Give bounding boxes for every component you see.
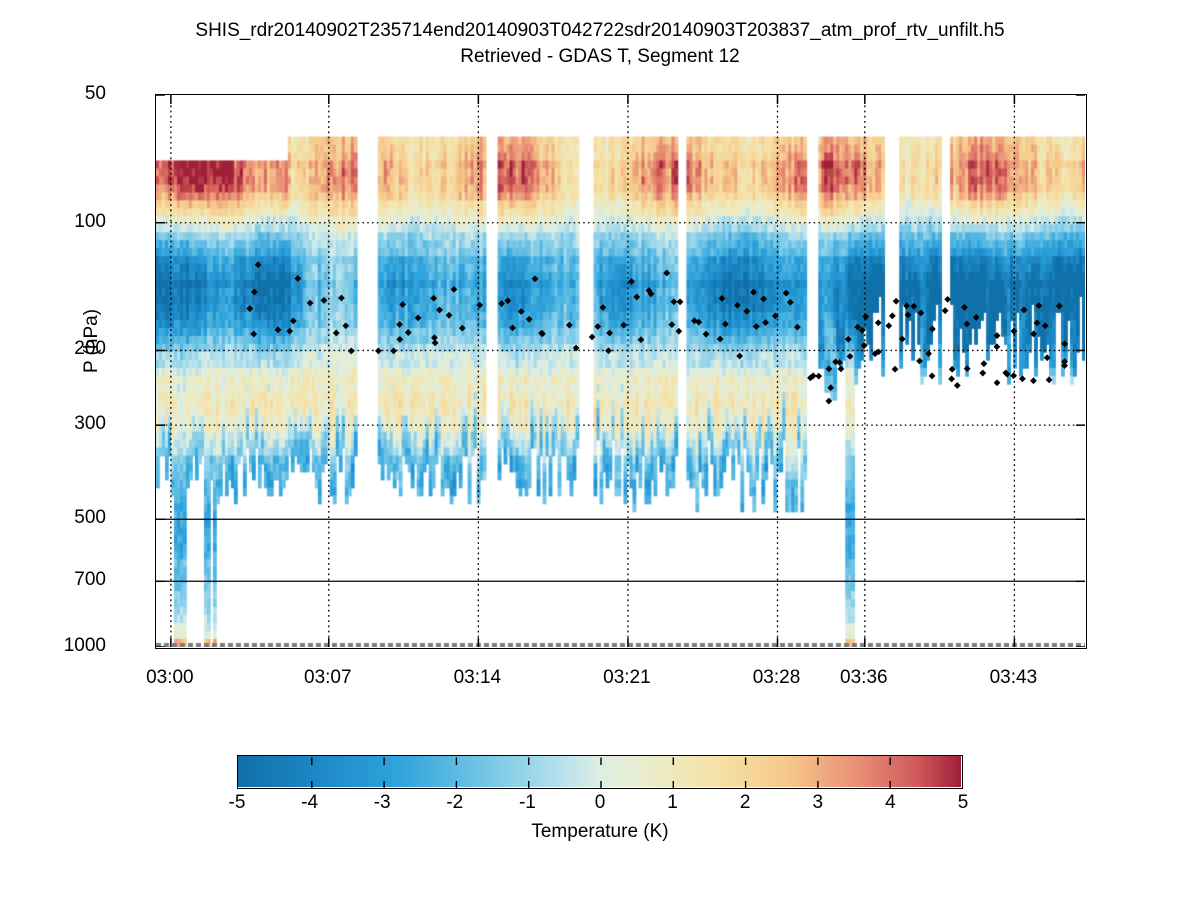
- colorbar-tick-neg1: -1: [497, 793, 557, 812]
- colorbar-tick-4: 4: [860, 793, 920, 812]
- y-tick-700: 700: [0, 570, 106, 589]
- title-line-filename: SHIS_rdr20140902T235714end20140903T04272…: [0, 18, 1200, 44]
- figure-title: SHIS_rdr20140902T235714end20140903T04272…: [0, 18, 1200, 70]
- colorbar-tick-neg2: -2: [425, 793, 485, 812]
- y-tick-1000: 1000: [0, 636, 106, 655]
- colorbar-title: Temperature (K): [237, 821, 963, 843]
- colorbar-tick-0: 0: [570, 793, 630, 812]
- figure-canvas: SHIS_rdr20140902T235714end20140903T04272…: [0, 0, 1200, 900]
- colorbar-tick-3: 3: [788, 793, 848, 812]
- colorbar[interactable]: -5-4-3-2-1012345 Temperature (K): [237, 755, 963, 789]
- y-tick-300: 300: [0, 414, 106, 433]
- colorbar-tick-5: 5: [933, 793, 993, 812]
- y-tick-label: 100: [74, 212, 106, 231]
- x-tick-03-43: 03:43: [933, 668, 1093, 687]
- y-tick-label: 50: [85, 84, 106, 103]
- x-tick-03-07: 03:07: [248, 668, 408, 687]
- x-tick-03-14: 03:14: [397, 668, 557, 687]
- y-tick-50: 50: [0, 84, 106, 103]
- y-tick-100: 100: [0, 212, 106, 231]
- x-tick-03-36: 03:36: [784, 668, 944, 687]
- x-tick-03-00: 03:00: [90, 668, 250, 687]
- y-tick-200: 200: [0, 339, 106, 358]
- colorbar-tick-2: 2: [715, 793, 775, 812]
- colorbar-tick-1: 1: [643, 793, 703, 812]
- y-tick-label: 500: [74, 508, 106, 527]
- y-tick-label: 700: [74, 570, 106, 589]
- y-tick-label: 1000: [64, 636, 106, 655]
- y-tick-label: 200: [74, 339, 106, 358]
- colorbar-tickmarks: [238, 756, 964, 790]
- y-tick-label: 300: [74, 414, 106, 433]
- plot-area[interactable]: [155, 94, 1087, 649]
- y-tick-500: 500: [0, 508, 106, 527]
- colorbar-tick-neg3: -3: [352, 793, 412, 812]
- x-tick-03-21: 03:21: [547, 668, 707, 687]
- title-line-subtitle: Retrieved - GDAS T, Segment 12: [0, 44, 1200, 70]
- colorbar-gradient: [237, 755, 963, 789]
- colorbar-tick-neg4: -4: [280, 793, 340, 812]
- colorbar-tick-neg5: -5: [207, 793, 267, 812]
- cloud-top-markers-layer: [156, 95, 1085, 647]
